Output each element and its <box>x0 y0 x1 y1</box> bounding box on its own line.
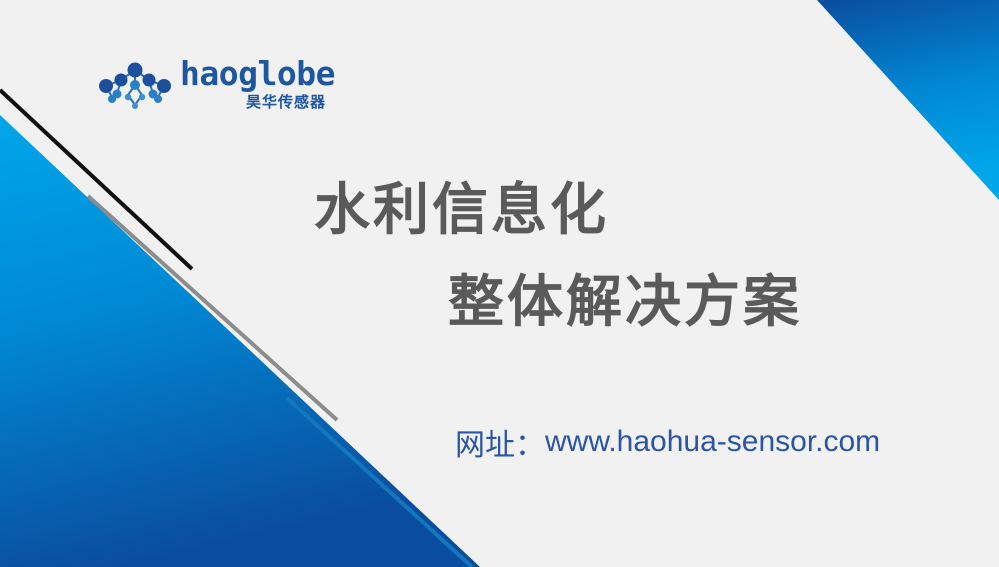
logo-wordmark: haoglobe <box>180 57 326 91</box>
page-title-line-2: 整体解决方案 <box>300 256 900 348</box>
presentation-title-slide: haoglobe 昊华传感器 水利信息化 整体解决方案 网址：www.haohu… <box>0 0 999 567</box>
website-url[interactable]: www.haohua-sensor.com <box>545 425 880 458</box>
website-label: 网址： <box>455 429 545 462</box>
logo-wordmark-text: haoglobe <box>180 57 326 91</box>
website-line: 网址：www.haohua-sensor.com <box>455 420 880 464</box>
logo-subtitle: 昊华传感器 <box>206 93 326 113</box>
blue-diagonal-line <box>287 398 472 567</box>
page-title-line-1: 水利信息化 <box>300 164 900 256</box>
haoglobe-network-dots-logo-icon <box>96 59 174 113</box>
page-title: 水利信息化 整体解决方案 <box>300 164 900 348</box>
company-logo[interactable]: haoglobe 昊华传感器 <box>96 57 326 119</box>
